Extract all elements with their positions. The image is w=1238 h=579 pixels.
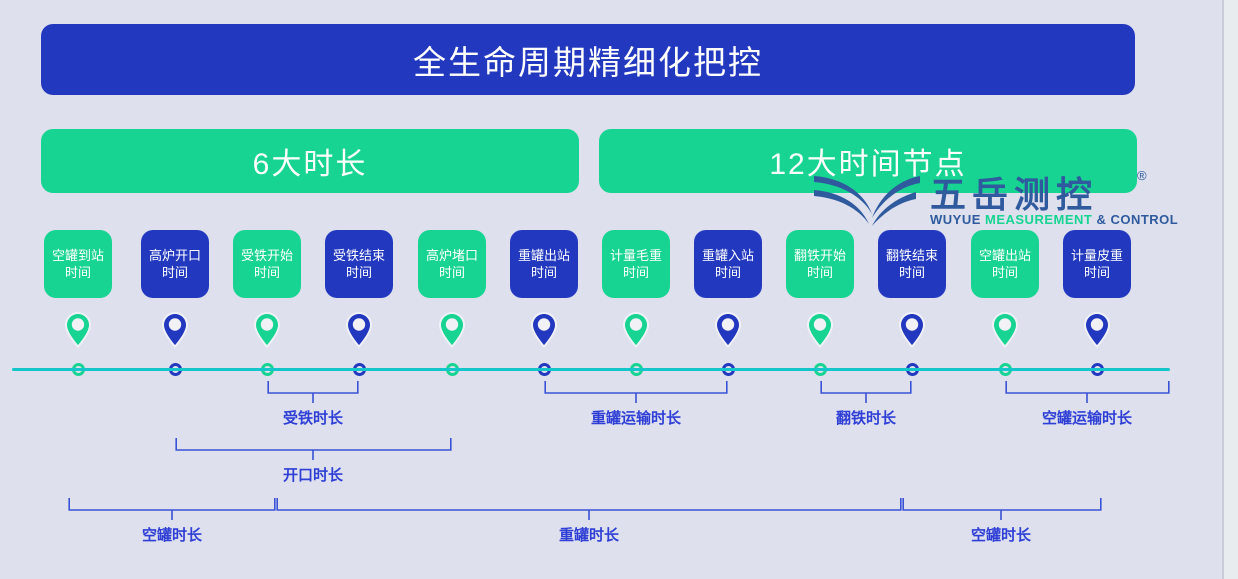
duration-bracket: 空罐时长 — [68, 498, 276, 520]
time-node-label: 计量皮重时间 — [1069, 247, 1125, 281]
section-banner-durations-label: 6大时长 — [253, 139, 368, 183]
time-node-box[interactable]: 翻铁结束时间 — [878, 230, 946, 298]
map-pin-icon — [713, 310, 743, 350]
time-node-box[interactable]: 空罐出站时间 — [971, 230, 1039, 298]
slide-panel: 全生命周期精细化把控 6大时长 12大时间节点 五岳测控 ® WUYUE MEA… — [0, 0, 1222, 579]
time-node-label: 计量毛重时间 — [608, 247, 664, 281]
time-node-box[interactable]: 计量毛重时间 — [602, 230, 670, 298]
time-node-box[interactable]: 受铁结束时间 — [325, 230, 393, 298]
duration-bracket: 翻铁时长 — [820, 381, 912, 403]
map-pin-icon — [897, 310, 927, 350]
duration-label: 受铁时长 — [283, 407, 343, 428]
duration-label: 空罐运输时长 — [1042, 407, 1132, 428]
time-node-box[interactable]: 计量皮重时间 — [1063, 230, 1131, 298]
time-node-box[interactable]: 空罐到站时间 — [44, 230, 112, 298]
slide-title-banner: 全生命周期精细化把控 — [41, 24, 1135, 95]
registered-mark-icon: ® — [1137, 168, 1147, 183]
watermark-brand-en-part1: WUYUE — [930, 212, 985, 227]
page-title: 全生命周期精细化把控 — [413, 36, 763, 84]
map-pin-icon — [63, 310, 93, 350]
time-node-label: 重罐入站时间 — [700, 247, 756, 281]
map-pin-icon — [252, 310, 282, 350]
duration-label: 空罐时长 — [971, 524, 1031, 545]
time-node-label: 空罐出站时间 — [977, 247, 1033, 281]
panel-right-edge — [1222, 0, 1224, 579]
time-node-label: 翻铁开始时间 — [792, 247, 848, 281]
duration-label: 重罐时长 — [559, 524, 619, 545]
time-node-label: 高炉开口时间 — [147, 247, 203, 281]
time-node-label: 翻铁结束时间 — [884, 247, 940, 281]
duration-label: 翻铁时长 — [836, 407, 896, 428]
time-node-label: 受铁结束时间 — [331, 247, 387, 281]
watermark-brand-en-part2: MEASUREMENT — [985, 212, 1092, 227]
map-pin-icon — [990, 310, 1020, 350]
timeline-axis — [12, 368, 1170, 371]
watermark-brand-en: WUYUE MEASUREMENT & CONTROL — [930, 212, 1178, 227]
map-pin-icon — [805, 310, 835, 350]
duration-label: 开口时长 — [283, 464, 343, 485]
duration-label: 重罐运输时长 — [591, 407, 681, 428]
map-pin-icon — [1082, 310, 1112, 350]
section-banner-timepoints: 12大时间节点 — [599, 129, 1137, 193]
map-pin-icon — [344, 310, 374, 350]
duration-bracket: 开口时长 — [175, 438, 452, 460]
time-node-box[interactable]: 高炉堵口时间 — [418, 230, 486, 298]
time-node-label: 高炉堵口时间 — [424, 247, 480, 281]
section-banner-durations: 6大时长 — [41, 129, 579, 193]
time-node-label: 重罐出站时间 — [516, 247, 572, 281]
section-banner-timepoints-label: 12大时间节点 — [769, 139, 966, 183]
time-node-box[interactable]: 重罐入站时间 — [694, 230, 762, 298]
map-pin-icon — [529, 310, 559, 350]
map-pin-icon — [621, 310, 651, 350]
time-node-box[interactable]: 重罐出站时间 — [510, 230, 578, 298]
duration-bracket: 重罐运输时长 — [544, 381, 728, 403]
duration-bracket: 受铁时长 — [267, 381, 359, 403]
map-pin-icon — [160, 310, 190, 350]
time-node-box[interactable]: 翻铁开始时间 — [786, 230, 854, 298]
time-node-label: 空罐到站时间 — [50, 247, 106, 281]
duration-label: 空罐时长 — [142, 524, 202, 545]
time-node-box[interactable]: 受铁开始时间 — [233, 230, 301, 298]
map-pin-icon — [437, 310, 467, 350]
slide-canvas: 全生命周期精细化把控 6大时长 12大时间节点 五岳测控 ® WUYUE MEA… — [0, 0, 1238, 579]
watermark-brand-en-part3: & CONTROL — [1092, 212, 1178, 227]
duration-bracket: 重罐时长 — [276, 498, 902, 520]
duration-bracket: 空罐时长 — [902, 498, 1102, 520]
time-node-box[interactable]: 高炉开口时间 — [141, 230, 209, 298]
duration-bracket: 空罐运输时长 — [1005, 381, 1170, 403]
time-node-label: 受铁开始时间 — [239, 247, 295, 281]
